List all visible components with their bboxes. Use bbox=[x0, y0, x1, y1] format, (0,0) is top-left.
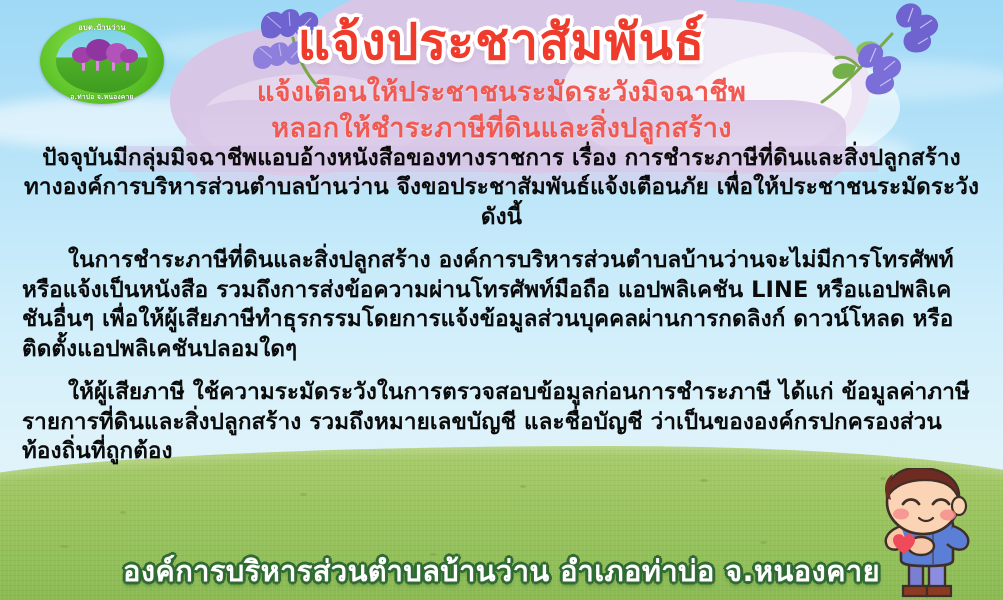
poster-subtitle: แจ้งเตือนให้ประชาชนระมัดระวังมิจฉาชีพ หล… bbox=[0, 75, 1003, 146]
subtitle-line-1: แจ้งเตือนให้ประชาชนระมัดระวังมิจฉาชีพ bbox=[0, 75, 1003, 111]
poster-heading-block: แจ้งประชาสัมพันธ์ แจ้งเตือนให้ประชาชนระม… bbox=[0, 16, 1003, 146]
subtitle-line-2: หลอกให้ชำระภาษีที่ดินและสิ่งปลูกสร้าง bbox=[0, 111, 1003, 147]
poster-body: ปัจจุบันมีกลุ่มมิจฉาชีพแอบอ้างหนังสือของ… bbox=[22, 144, 981, 467]
paragraph-1: ปัจจุบันมีกลุ่มมิจฉาชีพแอบอ้างหนังสือของ… bbox=[22, 144, 981, 232]
cartoon-boy-icon bbox=[849, 468, 999, 600]
page-title: แจ้งประชาสัมพันธ์ bbox=[0, 16, 1003, 69]
paragraph-2: ในการชำระภาษีที่ดินและสิ่งปลูกสร้าง องค์… bbox=[22, 246, 981, 364]
footer-organization-text: องค์การบริหารส่วนตำบลบ้านว่าน อำเภอท่าบ่… bbox=[123, 548, 880, 594]
paragraph-3: ให้ผู้เสียภาษี ใช้ความระมัดระวังในการตรว… bbox=[22, 378, 981, 466]
announcement-poster: อบต.บ้านว่าน อ.ท่าบ่อ จ.หนองคาย bbox=[0, 0, 1003, 600]
